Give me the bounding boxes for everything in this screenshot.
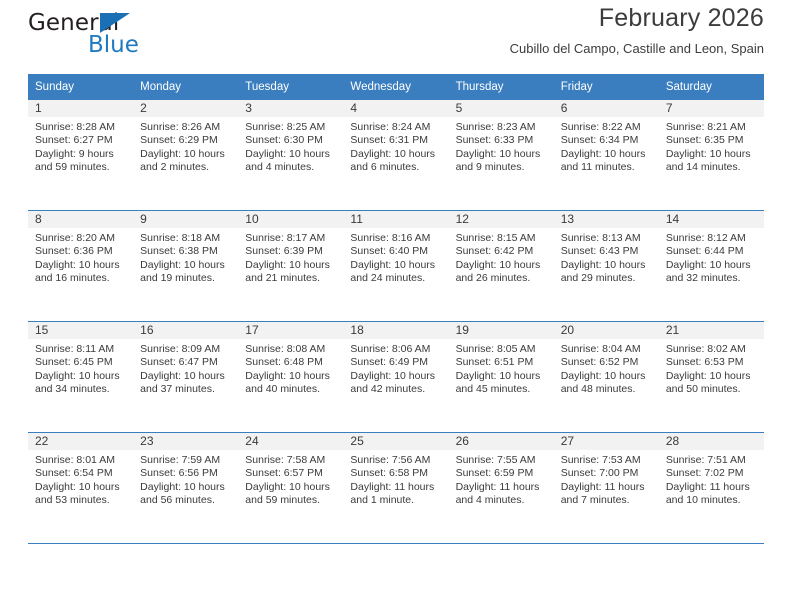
weekday-header-friday: Friday bbox=[554, 74, 659, 100]
day-details: Sunrise: 8:09 AM Sunset: 6:47 PM Dayligh… bbox=[133, 339, 238, 396]
daylight-text-line2: and 4 minutes. bbox=[456, 494, 548, 507]
daylight-text-line2: and 26 minutes. bbox=[456, 272, 548, 285]
day-cell[interactable]: 2 Sunrise: 8:26 AM Sunset: 6:29 PM Dayli… bbox=[133, 100, 238, 211]
day-cell[interactable]: 23 Sunrise: 7:59 AM Sunset: 6:56 PM Dayl… bbox=[133, 433, 238, 544]
daylight-text-line1: Daylight: 10 hours bbox=[456, 370, 548, 383]
day-number: 2 bbox=[133, 100, 238, 117]
daylight-text-line1: Daylight: 10 hours bbox=[140, 148, 232, 161]
sunset-text: Sunset: 6:51 PM bbox=[456, 356, 548, 369]
day-cell[interactable]: 14 Sunrise: 8:12 AM Sunset: 6:44 PM Dayl… bbox=[659, 211, 764, 322]
sunset-text: Sunset: 6:49 PM bbox=[350, 356, 442, 369]
day-details: Sunrise: 8:23 AM Sunset: 6:33 PM Dayligh… bbox=[449, 117, 554, 174]
sunset-text: Sunset: 6:45 PM bbox=[35, 356, 127, 369]
day-details: Sunrise: 8:02 AM Sunset: 6:53 PM Dayligh… bbox=[659, 339, 764, 396]
day-cell[interactable]: 10 Sunrise: 8:17 AM Sunset: 6:39 PM Dayl… bbox=[238, 211, 343, 322]
day-details: Sunrise: 8:26 AM Sunset: 6:29 PM Dayligh… bbox=[133, 117, 238, 174]
day-details: Sunrise: 8:25 AM Sunset: 6:30 PM Dayligh… bbox=[238, 117, 343, 174]
day-number: 3 bbox=[238, 100, 343, 117]
daylight-text-line2: and 4 minutes. bbox=[245, 161, 337, 174]
daylight-text-line2: and 6 minutes. bbox=[350, 161, 442, 174]
daylight-text-line1: Daylight: 10 hours bbox=[561, 148, 653, 161]
sunrise-text: Sunrise: 7:51 AM bbox=[666, 454, 758, 467]
daylight-text-line1: Daylight: 10 hours bbox=[666, 148, 758, 161]
day-number: 14 bbox=[659, 211, 764, 228]
daylight-text-line2: and 59 minutes. bbox=[35, 161, 127, 174]
weekday-header-wednesday: Wednesday bbox=[343, 74, 448, 100]
day-number: 5 bbox=[449, 100, 554, 117]
sunset-text: Sunset: 6:58 PM bbox=[350, 467, 442, 480]
day-details: Sunrise: 8:04 AM Sunset: 6:52 PM Dayligh… bbox=[554, 339, 659, 396]
sunrise-text: Sunrise: 8:25 AM bbox=[245, 121, 337, 134]
day-cell[interactable]: 11 Sunrise: 8:16 AM Sunset: 6:40 PM Dayl… bbox=[343, 211, 448, 322]
weekday-header-thursday: Thursday bbox=[449, 74, 554, 100]
day-number: 4 bbox=[343, 100, 448, 117]
daylight-text-line1: Daylight: 10 hours bbox=[140, 259, 232, 272]
day-details: Sunrise: 8:12 AM Sunset: 6:44 PM Dayligh… bbox=[659, 228, 764, 285]
sunrise-text: Sunrise: 8:12 AM bbox=[666, 232, 758, 245]
title-block: February 2026 Cubillo del Campo, Castill… bbox=[510, 0, 764, 56]
sunrise-text: Sunrise: 7:53 AM bbox=[561, 454, 653, 467]
daylight-text-line1: Daylight: 11 hours bbox=[561, 481, 653, 494]
daylight-text-line1: Daylight: 10 hours bbox=[456, 259, 548, 272]
daylight-text-line2: and 45 minutes. bbox=[456, 383, 548, 396]
daylight-text-line1: Daylight: 10 hours bbox=[140, 370, 232, 383]
daylight-text-line2: and 56 minutes. bbox=[140, 494, 232, 507]
calendar-week-row: 22 Sunrise: 8:01 AM Sunset: 6:54 PM Dayl… bbox=[28, 433, 764, 544]
page-subtitle: Cubillo del Campo, Castille and Leon, Sp… bbox=[510, 41, 764, 57]
day-cell[interactable]: 4 Sunrise: 8:24 AM Sunset: 6:31 PM Dayli… bbox=[343, 100, 448, 211]
day-cell[interactable]: 27 Sunrise: 7:53 AM Sunset: 7:00 PM Dayl… bbox=[554, 433, 659, 544]
day-cell[interactable]: 28 Sunrise: 7:51 AM Sunset: 7:02 PM Dayl… bbox=[659, 433, 764, 544]
sunrise-text: Sunrise: 8:26 AM bbox=[140, 121, 232, 134]
daylight-text-line2: and 53 minutes. bbox=[35, 494, 127, 507]
day-cell[interactable]: 12 Sunrise: 8:15 AM Sunset: 6:42 PM Dayl… bbox=[449, 211, 554, 322]
sunset-text: Sunset: 6:36 PM bbox=[35, 245, 127, 258]
calendar-week-row: 1 Sunrise: 8:28 AM Sunset: 6:27 PM Dayli… bbox=[28, 100, 764, 211]
daylight-text-line2: and 19 minutes. bbox=[140, 272, 232, 285]
daylight-text-line1: Daylight: 10 hours bbox=[350, 370, 442, 383]
day-details: Sunrise: 8:24 AM Sunset: 6:31 PM Dayligh… bbox=[343, 117, 448, 174]
sunrise-text: Sunrise: 8:16 AM bbox=[350, 232, 442, 245]
sunrise-text: Sunrise: 8:28 AM bbox=[35, 121, 127, 134]
daylight-text-line1: Daylight: 10 hours bbox=[245, 481, 337, 494]
day-details: Sunrise: 7:56 AM Sunset: 6:58 PM Dayligh… bbox=[343, 450, 448, 507]
calendar-body: 1 Sunrise: 8:28 AM Sunset: 6:27 PM Dayli… bbox=[28, 100, 764, 544]
day-number: 23 bbox=[133, 433, 238, 450]
sunrise-text: Sunrise: 8:04 AM bbox=[561, 343, 653, 356]
page-header: General Blue February 2026 Cubillo del C… bbox=[28, 0, 764, 74]
day-number: 10 bbox=[238, 211, 343, 228]
day-cell[interactable]: 8 Sunrise: 8:20 AM Sunset: 6:36 PM Dayli… bbox=[28, 211, 133, 322]
day-details: Sunrise: 8:06 AM Sunset: 6:49 PM Dayligh… bbox=[343, 339, 448, 396]
sunset-text: Sunset: 6:27 PM bbox=[35, 134, 127, 147]
daylight-text-line1: Daylight: 10 hours bbox=[35, 370, 127, 383]
day-details: Sunrise: 8:28 AM Sunset: 6:27 PM Dayligh… bbox=[28, 117, 133, 174]
sunset-text: Sunset: 6:44 PM bbox=[666, 245, 758, 258]
day-number: 9 bbox=[133, 211, 238, 228]
day-details: Sunrise: 8:08 AM Sunset: 6:48 PM Dayligh… bbox=[238, 339, 343, 396]
daylight-text-line1: Daylight: 10 hours bbox=[666, 370, 758, 383]
day-number: 21 bbox=[659, 322, 764, 339]
daylight-text-line2: and 2 minutes. bbox=[140, 161, 232, 174]
sunrise-text: Sunrise: 8:11 AM bbox=[35, 343, 127, 356]
daylight-text-line2: and 10 minutes. bbox=[666, 494, 758, 507]
day-details: Sunrise: 7:55 AM Sunset: 6:59 PM Dayligh… bbox=[449, 450, 554, 507]
sunset-text: Sunset: 6:29 PM bbox=[140, 134, 232, 147]
sunset-text: Sunset: 6:47 PM bbox=[140, 356, 232, 369]
day-details: Sunrise: 8:17 AM Sunset: 6:39 PM Dayligh… bbox=[238, 228, 343, 285]
day-number: 7 bbox=[659, 100, 764, 117]
day-number: 15 bbox=[28, 322, 133, 339]
calendar-page: General Blue February 2026 Cubillo del C… bbox=[0, 0, 792, 612]
day-details: Sunrise: 8:21 AM Sunset: 6:35 PM Dayligh… bbox=[659, 117, 764, 174]
day-number: 25 bbox=[343, 433, 448, 450]
daylight-text-line1: Daylight: 10 hours bbox=[456, 148, 548, 161]
day-cell[interactable]: 19 Sunrise: 8:05 AM Sunset: 6:51 PM Dayl… bbox=[449, 322, 554, 433]
sunrise-text: Sunrise: 8:24 AM bbox=[350, 121, 442, 134]
day-number: 20 bbox=[554, 322, 659, 339]
sunrise-text: Sunrise: 8:15 AM bbox=[456, 232, 548, 245]
day-details: Sunrise: 7:51 AM Sunset: 7:02 PM Dayligh… bbox=[659, 450, 764, 507]
calendar-week-row: 15 Sunrise: 8:11 AM Sunset: 6:45 PM Dayl… bbox=[28, 322, 764, 433]
sunrise-text: Sunrise: 8:22 AM bbox=[561, 121, 653, 134]
day-cell[interactable]: 20 Sunrise: 8:04 AM Sunset: 6:52 PM Dayl… bbox=[554, 322, 659, 433]
day-cell[interactable]: 5 Sunrise: 8:23 AM Sunset: 6:33 PM Dayli… bbox=[449, 100, 554, 211]
sunrise-text: Sunrise: 8:06 AM bbox=[350, 343, 442, 356]
sunset-text: Sunset: 6:57 PM bbox=[245, 467, 337, 480]
day-cell[interactable]: 9 Sunrise: 8:18 AM Sunset: 6:38 PM Dayli… bbox=[133, 211, 238, 322]
daylight-text-line2: and 7 minutes. bbox=[561, 494, 653, 507]
daylight-text-line1: Daylight: 10 hours bbox=[140, 481, 232, 494]
general-blue-logo[interactable]: General Blue bbox=[28, 10, 218, 66]
daylight-text-line2: and 11 minutes. bbox=[561, 161, 653, 174]
sunset-text: Sunset: 6:39 PM bbox=[245, 245, 337, 258]
sunrise-text: Sunrise: 8:01 AM bbox=[35, 454, 127, 467]
sunset-text: Sunset: 6:59 PM bbox=[456, 467, 548, 480]
day-details: Sunrise: 7:53 AM Sunset: 7:00 PM Dayligh… bbox=[554, 450, 659, 507]
day-number: 6 bbox=[554, 100, 659, 117]
day-details: Sunrise: 8:13 AM Sunset: 6:43 PM Dayligh… bbox=[554, 228, 659, 285]
day-cell[interactable]: 18 Sunrise: 8:06 AM Sunset: 6:49 PM Dayl… bbox=[343, 322, 448, 433]
day-number: 13 bbox=[554, 211, 659, 228]
day-number: 27 bbox=[554, 433, 659, 450]
day-details: Sunrise: 8:11 AM Sunset: 6:45 PM Dayligh… bbox=[28, 339, 133, 396]
daylight-text-line2: and 37 minutes. bbox=[140, 383, 232, 396]
sunrise-text: Sunrise: 7:56 AM bbox=[350, 454, 442, 467]
daylight-text-line2: and 50 minutes. bbox=[666, 383, 758, 396]
sunset-text: Sunset: 6:35 PM bbox=[666, 134, 758, 147]
sunrise-text: Sunrise: 8:09 AM bbox=[140, 343, 232, 356]
daylight-text-line2: and 24 minutes. bbox=[350, 272, 442, 285]
day-details: Sunrise: 8:22 AM Sunset: 6:34 PM Dayligh… bbox=[554, 117, 659, 174]
day-number: 18 bbox=[343, 322, 448, 339]
day-cell[interactable]: 1 Sunrise: 8:28 AM Sunset: 6:27 PM Dayli… bbox=[28, 100, 133, 211]
daylight-text-line2: and 32 minutes. bbox=[666, 272, 758, 285]
sunset-text: Sunset: 6:54 PM bbox=[35, 467, 127, 480]
daylight-text-line1: Daylight: 10 hours bbox=[350, 259, 442, 272]
day-number: 17 bbox=[238, 322, 343, 339]
day-cell[interactable]: 17 Sunrise: 8:08 AM Sunset: 6:48 PM Dayl… bbox=[238, 322, 343, 433]
daylight-text-line1: Daylight: 10 hours bbox=[245, 370, 337, 383]
daylight-text-line1: Daylight: 10 hours bbox=[35, 481, 127, 494]
daylight-text-line1: Daylight: 10 hours bbox=[561, 370, 653, 383]
day-details: Sunrise: 8:18 AM Sunset: 6:38 PM Dayligh… bbox=[133, 228, 238, 285]
daylight-text-line2: and 1 minute. bbox=[350, 494, 442, 507]
day-cell[interactable]: 16 Sunrise: 8:09 AM Sunset: 6:47 PM Dayl… bbox=[133, 322, 238, 433]
daylight-text-line1: Daylight: 10 hours bbox=[666, 259, 758, 272]
sunset-text: Sunset: 6:48 PM bbox=[245, 356, 337, 369]
sunrise-text: Sunrise: 7:59 AM bbox=[140, 454, 232, 467]
day-cell[interactable]: 6 Sunrise: 8:22 AM Sunset: 6:34 PM Dayli… bbox=[554, 100, 659, 211]
daylight-text-line1: Daylight: 10 hours bbox=[35, 259, 127, 272]
sunrise-text: Sunrise: 8:21 AM bbox=[666, 121, 758, 134]
daylight-text-line2: and 14 minutes. bbox=[666, 161, 758, 174]
day-number: 1 bbox=[28, 100, 133, 117]
day-cell[interactable]: 22 Sunrise: 8:01 AM Sunset: 6:54 PM Dayl… bbox=[28, 433, 133, 544]
triangle-icon bbox=[100, 13, 130, 33]
day-number: 19 bbox=[449, 322, 554, 339]
daylight-text-line1: Daylight: 9 hours bbox=[35, 148, 127, 161]
daylight-text-line2: and 29 minutes. bbox=[561, 272, 653, 285]
day-number: 11 bbox=[343, 211, 448, 228]
sunrise-text: Sunrise: 7:58 AM bbox=[245, 454, 337, 467]
daylight-text-line2: and 40 minutes. bbox=[245, 383, 337, 396]
daylight-text-line2: and 48 minutes. bbox=[561, 383, 653, 396]
day-cell[interactable]: 15 Sunrise: 8:11 AM Sunset: 6:45 PM Dayl… bbox=[28, 322, 133, 433]
daylight-text-line1: Daylight: 11 hours bbox=[350, 481, 442, 494]
weekday-header-saturday: Saturday bbox=[659, 74, 764, 100]
day-cell[interactable]: 25 Sunrise: 7:56 AM Sunset: 6:58 PM Dayl… bbox=[343, 433, 448, 544]
sunrise-text: Sunrise: 8:17 AM bbox=[245, 232, 337, 245]
day-cell[interactable]: 7 Sunrise: 8:21 AM Sunset: 6:35 PM Dayli… bbox=[659, 100, 764, 211]
sunset-text: Sunset: 6:31 PM bbox=[350, 134, 442, 147]
day-details: Sunrise: 8:01 AM Sunset: 6:54 PM Dayligh… bbox=[28, 450, 133, 507]
sunset-text: Sunset: 6:53 PM bbox=[666, 356, 758, 369]
weekday-header-monday: Monday bbox=[133, 74, 238, 100]
weekday-header-tuesday: Tuesday bbox=[238, 74, 343, 100]
sunrise-text: Sunrise: 8:05 AM bbox=[456, 343, 548, 356]
sunrise-text: Sunrise: 8:13 AM bbox=[561, 232, 653, 245]
daylight-text-line2: and 42 minutes. bbox=[350, 383, 442, 396]
daylight-text-line1: Daylight: 11 hours bbox=[456, 481, 548, 494]
day-number: 24 bbox=[238, 433, 343, 450]
logo-text-blue: Blue bbox=[88, 32, 139, 58]
daylight-text-line2: and 16 minutes. bbox=[35, 272, 127, 285]
daylight-text-line1: Daylight: 10 hours bbox=[245, 148, 337, 161]
daylight-text-line1: Daylight: 10 hours bbox=[350, 148, 442, 161]
sunset-text: Sunset: 6:42 PM bbox=[456, 245, 548, 258]
daylight-text-line2: and 21 minutes. bbox=[245, 272, 337, 285]
daylight-text-line1: Daylight: 10 hours bbox=[561, 259, 653, 272]
sunset-text: Sunset: 6:33 PM bbox=[456, 134, 548, 147]
daylight-text-line2: and 59 minutes. bbox=[245, 494, 337, 507]
day-number: 12 bbox=[449, 211, 554, 228]
day-details: Sunrise: 7:59 AM Sunset: 6:56 PM Dayligh… bbox=[133, 450, 238, 507]
day-details: Sunrise: 8:15 AM Sunset: 6:42 PM Dayligh… bbox=[449, 228, 554, 285]
page-title: February 2026 bbox=[510, 4, 764, 33]
day-cell[interactable]: 21 Sunrise: 8:02 AM Sunset: 6:53 PM Dayl… bbox=[659, 322, 764, 433]
sunset-text: Sunset: 6:38 PM bbox=[140, 245, 232, 258]
day-cell[interactable]: 26 Sunrise: 7:55 AM Sunset: 6:59 PM Dayl… bbox=[449, 433, 554, 544]
day-number: 22 bbox=[28, 433, 133, 450]
sunset-text: Sunset: 6:52 PM bbox=[561, 356, 653, 369]
daylight-text-line2: and 34 minutes. bbox=[35, 383, 127, 396]
sunset-text: Sunset: 6:56 PM bbox=[140, 467, 232, 480]
daylight-text-line2: and 9 minutes. bbox=[456, 161, 548, 174]
day-number: 8 bbox=[28, 211, 133, 228]
sunrise-text: Sunrise: 8:20 AM bbox=[35, 232, 127, 245]
day-cell[interactable]: 24 Sunrise: 7:58 AM Sunset: 6:57 PM Dayl… bbox=[238, 433, 343, 544]
sunset-text: Sunset: 7:00 PM bbox=[561, 467, 653, 480]
sunrise-text: Sunrise: 7:55 AM bbox=[456, 454, 548, 467]
calendar-week-row: 8 Sunrise: 8:20 AM Sunset: 6:36 PM Dayli… bbox=[28, 211, 764, 322]
sunrise-text: Sunrise: 8:18 AM bbox=[140, 232, 232, 245]
sunset-text: Sunset: 7:02 PM bbox=[666, 467, 758, 480]
sunrise-text: Sunrise: 8:02 AM bbox=[666, 343, 758, 356]
day-number: 28 bbox=[659, 433, 764, 450]
weekday-header-sunday: Sunday bbox=[28, 74, 133, 100]
day-details: Sunrise: 8:05 AM Sunset: 6:51 PM Dayligh… bbox=[449, 339, 554, 396]
day-details: Sunrise: 8:16 AM Sunset: 6:40 PM Dayligh… bbox=[343, 228, 448, 285]
day-number: 26 bbox=[449, 433, 554, 450]
calendar-header-row: Sunday Monday Tuesday Wednesday Thursday… bbox=[28, 74, 764, 100]
day-cell[interactable]: 3 Sunrise: 8:25 AM Sunset: 6:30 PM Dayli… bbox=[238, 100, 343, 211]
day-number: 16 bbox=[133, 322, 238, 339]
day-details: Sunrise: 7:58 AM Sunset: 6:57 PM Dayligh… bbox=[238, 450, 343, 507]
sunset-text: Sunset: 6:34 PM bbox=[561, 134, 653, 147]
daylight-text-line1: Daylight: 10 hours bbox=[245, 259, 337, 272]
daylight-text-line1: Daylight: 11 hours bbox=[666, 481, 758, 494]
day-details: Sunrise: 8:20 AM Sunset: 6:36 PM Dayligh… bbox=[28, 228, 133, 285]
sunrise-text: Sunrise: 8:08 AM bbox=[245, 343, 337, 356]
sunset-text: Sunset: 6:40 PM bbox=[350, 245, 442, 258]
sunset-text: Sunset: 6:43 PM bbox=[561, 245, 653, 258]
sunset-text: Sunset: 6:30 PM bbox=[245, 134, 337, 147]
sunrise-sunset-calendar: Sunday Monday Tuesday Wednesday Thursday… bbox=[28, 74, 764, 544]
sunrise-text: Sunrise: 8:23 AM bbox=[456, 121, 548, 134]
day-cell[interactable]: 13 Sunrise: 8:13 AM Sunset: 6:43 PM Dayl… bbox=[554, 211, 659, 322]
